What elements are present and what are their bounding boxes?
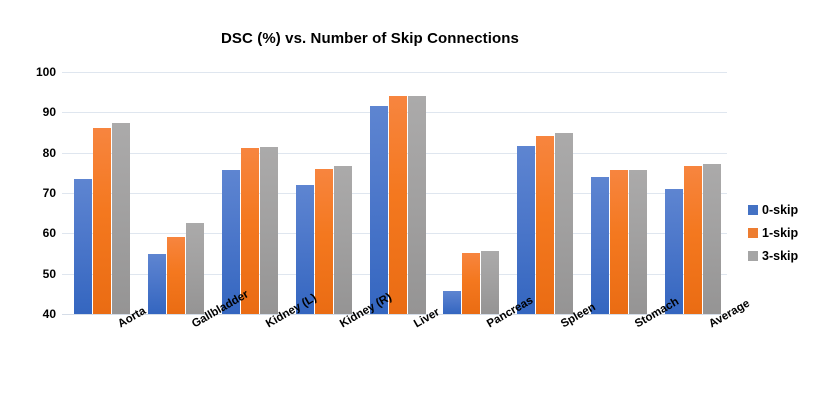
- legend-item-3-skip[interactable]: 3-skip: [748, 246, 828, 266]
- legend-label: 3-skip: [762, 249, 798, 263]
- bar-3-skip-kidney-r[interactable]: [334, 166, 352, 314]
- bar-1-skip-average[interactable]: [684, 166, 702, 314]
- bar-group-aorta: [74, 72, 130, 314]
- y-axis-tick-70: 70: [12, 186, 56, 200]
- y-axis-tick-80: 80: [12, 146, 56, 160]
- legend-item-0-skip[interactable]: 0-skip: [748, 200, 828, 220]
- legend-swatch-icon-1-skip: [748, 228, 758, 238]
- bar-3-skip-liver[interactable]: [408, 96, 426, 314]
- y-axis-tick-50: 50: [12, 267, 56, 281]
- x-axis-tick-pancreas: Pancreas: [485, 320, 491, 330]
- legend-swatch-icon-0-skip: [748, 205, 758, 215]
- x-axis-tick-liver: Liver: [412, 320, 418, 330]
- bar-1-skip-kidney-r[interactable]: [315, 169, 333, 314]
- x-axis-tick-spleen: Spleen: [559, 320, 565, 330]
- x-axis-tick-stomach: Stomach: [633, 320, 639, 330]
- bar-chart: DSC (%) vs. Number of Skip Connections 1…: [0, 0, 831, 412]
- x-axis-tick-kidney-r: Kidney (R): [338, 320, 344, 330]
- bar-3-skip-kidney-l[interactable]: [260, 147, 278, 314]
- bar-3-skip-spleen[interactable]: [555, 133, 573, 314]
- y-axis: 100908070605040: [6, 72, 56, 314]
- bar-3-skip-stomach[interactable]: [629, 170, 647, 314]
- bar-group-pancreas: [443, 72, 499, 314]
- bar-group-kidney-r: [296, 72, 352, 314]
- y-axis-tick-40: 40: [12, 307, 56, 321]
- legend-swatch-icon-3-skip: [748, 251, 758, 261]
- bar-0-skip-spleen[interactable]: [517, 146, 535, 314]
- bar-1-skip-gallbladder[interactable]: [167, 237, 185, 314]
- bar-1-skip-liver[interactable]: [389, 96, 407, 314]
- bar-group-average: [665, 72, 721, 314]
- y-axis-tick-60: 60: [12, 226, 56, 240]
- bar-0-skip-aorta[interactable]: [74, 179, 92, 314]
- bar-0-skip-liver[interactable]: [370, 106, 388, 314]
- y-axis-tick-90: 90: [12, 105, 56, 119]
- bar-group-stomach: [591, 72, 647, 314]
- chart-legend: 0-skip1-skip3-skip: [748, 200, 828, 269]
- legend-item-1-skip[interactable]: 1-skip: [748, 223, 828, 243]
- bar-3-skip-pancreas[interactable]: [481, 251, 499, 314]
- bar-3-skip-average[interactable]: [703, 164, 721, 314]
- bar-0-skip-stomach[interactable]: [591, 177, 609, 314]
- bar-0-skip-pancreas[interactable]: [443, 291, 461, 314]
- bar-0-skip-gallbladder[interactable]: [148, 254, 166, 315]
- x-axis: AortaGallbladderKidney (L)Kidney (R)Live…: [62, 314, 727, 409]
- chart-title: DSC (%) vs. Number of Skip Connections: [0, 30, 740, 47]
- bar-3-skip-gallbladder[interactable]: [186, 223, 204, 314]
- bar-group-kidney-l: [222, 72, 278, 314]
- legend-label: 0-skip: [762, 203, 798, 217]
- plot-area: [62, 72, 727, 314]
- bar-group-gallbladder: [148, 72, 204, 314]
- bar-1-skip-stomach[interactable]: [610, 170, 628, 314]
- bar-1-skip-pancreas[interactable]: [462, 253, 480, 314]
- x-axis-tick-gallbladder: Gallbladder: [190, 320, 196, 330]
- y-axis-tick-100: 100: [12, 65, 56, 79]
- bar-group-liver: [370, 72, 426, 314]
- bar-3-skip-aorta[interactable]: [112, 123, 130, 314]
- legend-label: 1-skip: [762, 226, 798, 240]
- x-axis-tick-aorta: Aorta: [116, 320, 122, 330]
- x-axis-tick-kidney-l: Kidney (L): [264, 320, 270, 330]
- bar-1-skip-spleen[interactable]: [536, 136, 554, 314]
- bar-group-spleen: [517, 72, 573, 314]
- x-axis-tick-average: Average: [707, 320, 713, 330]
- bar-1-skip-aorta[interactable]: [93, 128, 111, 314]
